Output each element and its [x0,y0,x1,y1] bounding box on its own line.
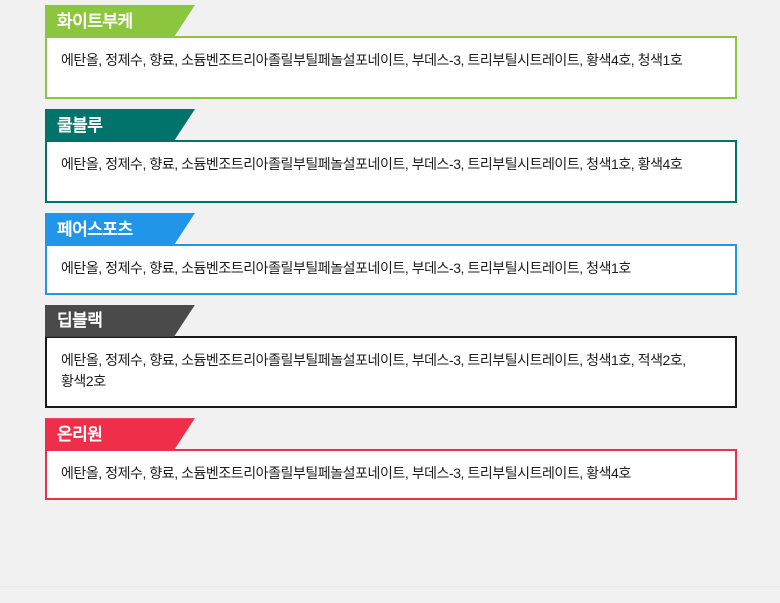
product-card-header: 딥블랙 [45,305,195,337]
page-root: 화이트부케 에탄올, 정제수, 향료, 소듐벤조트리아졸릴부틸페놀설포네이트, … [0,0,780,603]
ingredients-text: 에탄올, 정제수, 향료, 소듐벤조트리아졸릴부틸페놀설포네이트, 부데스-3,… [61,154,721,176]
product-card: 화이트부케 에탄올, 정제수, 향료, 소듐벤조트리아졸릴부틸페놀설포네이트, … [45,5,737,99]
product-card-header: 쿨블루 [45,109,195,141]
product-card-body: 에탄올, 정제수, 향료, 소듐벤조트리아졸릴부틸페놀설포네이트, 부데스-3,… [45,244,737,295]
ingredients-text: 에탄올, 정제수, 향료, 소듐벤조트리아졸릴부틸페놀설포네이트, 부데스-3,… [61,50,721,72]
product-card: 쿨블루 에탄올, 정제수, 향료, 소듐벤조트리아졸릴부틸페놀설포네이트, 부데… [45,109,737,203]
product-name-label: 쿨블루 [57,117,102,134]
product-card-body: 에탄올, 정제수, 향료, 소듐벤조트리아졸릴부틸페놀설포네이트, 부데스-3,… [45,140,737,203]
product-name-label: 온리원 [57,426,102,443]
product-card-body: 에탄올, 정제수, 향료, 소듐벤조트리아졸릴부틸페놀설포네이트, 부데스-3,… [45,449,737,500]
product-card: 온리원 에탄올, 정제수, 향료, 소듐벤조트리아졸릴부틸페놀설포네이트, 부데… [45,418,737,500]
page-divider [0,586,780,587]
ingredients-text: 에탄올, 정제수, 향료, 소듐벤조트리아졸릴부틸페놀설포네이트, 부데스-3,… [61,258,721,280]
product-card-body: 에탄올, 정제수, 향료, 소듐벤조트리아졸릴부틸페놀설포네이트, 부데스-3,… [45,336,737,408]
ingredients-text: 에탄올, 정제수, 향료, 소듐벤조트리아졸릴부틸페놀설포네이트, 부데스-3,… [61,463,721,485]
ingredients-text: 에탄올, 정제수, 향료, 소듐벤조트리아졸릴부틸페놀설포네이트, 부데스-3,… [61,350,721,393]
product-name-label: 페어스포츠 [57,221,133,238]
product-name-label: 화이트부케 [57,13,133,30]
product-card: 딥블랙 에탄올, 정제수, 향료, 소듐벤조트리아졸릴부틸페놀설포네이트, 부데… [45,305,737,408]
product-card: 페어스포츠 에탄올, 정제수, 향료, 소듐벤조트리아졸릴부틸페놀설포네이트, … [45,213,737,295]
product-card-body: 에탄올, 정제수, 향료, 소듐벤조트리아졸릴부틸페놀설포네이트, 부데스-3,… [45,36,737,99]
product-card-header: 온리원 [45,418,195,450]
product-card-header: 화이트부케 [45,5,195,37]
product-card-list: 화이트부케 에탄올, 정제수, 향료, 소듐벤조트리아졸릴부틸페놀설포네이트, … [45,5,737,510]
product-card-header: 페어스포츠 [45,213,195,245]
product-name-label: 딥블랙 [57,312,102,329]
